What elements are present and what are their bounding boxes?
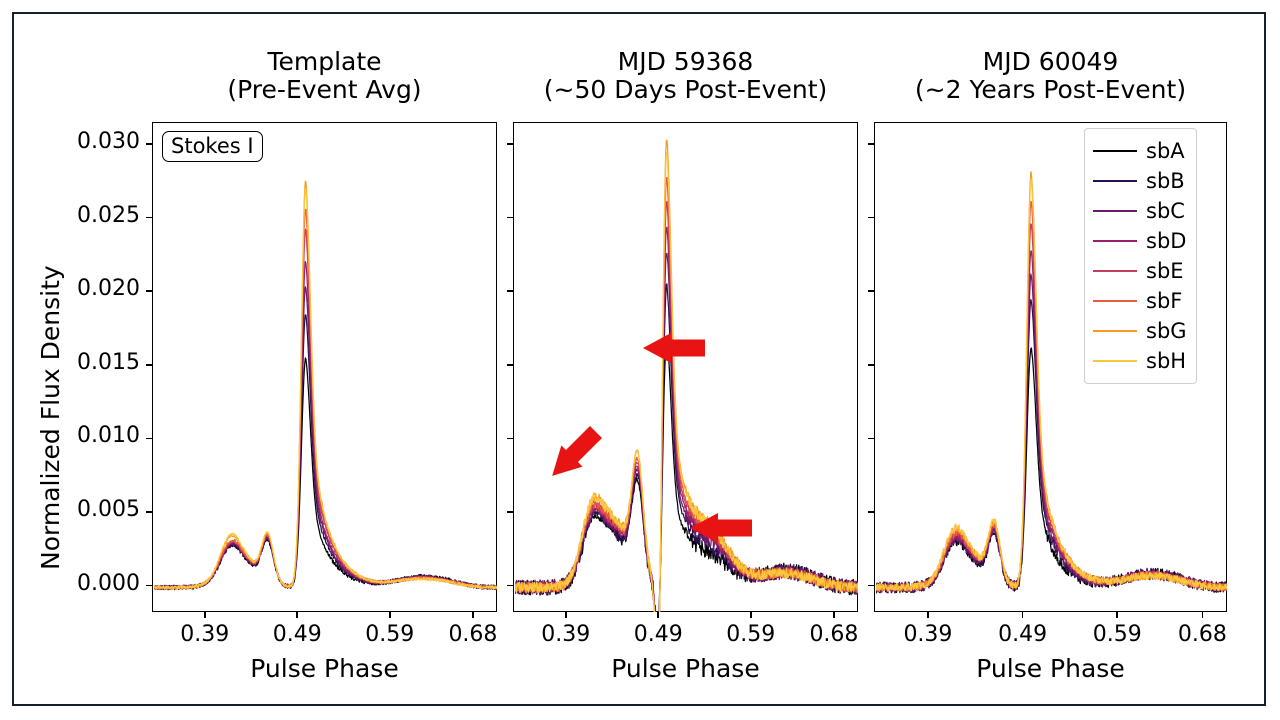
series-line-sbE: [515, 202, 858, 612]
x-tick-label: 0.39: [516, 622, 616, 647]
y-tick-label: 0.005: [2, 497, 140, 522]
y-tick-label: 0.030: [2, 129, 140, 154]
y-tick-mark: [507, 364, 513, 366]
x-tick-mark: [204, 612, 206, 618]
legend-swatch-sbD: [1093, 240, 1137, 242]
legend-item-sbB: sbB: [1093, 166, 1187, 196]
x-axis-label-3: Pulse Phase: [874, 654, 1227, 683]
x-tick-mark: [1116, 612, 1118, 618]
x-tick-label: 0.49: [608, 622, 708, 647]
x-tick-mark: [927, 612, 929, 618]
legend-label: sbE: [1146, 261, 1184, 282]
legend-item-sbF: sbF: [1093, 286, 1187, 316]
y-tick-mark: [146, 438, 152, 440]
x-tick-mark: [1202, 612, 1204, 618]
legend-label: sbD: [1146, 231, 1186, 252]
x-tick-mark: [1022, 612, 1024, 618]
series-line-sbF: [515, 178, 858, 612]
y-tick-mark: [146, 364, 152, 366]
legend-label: sbF: [1146, 291, 1182, 312]
series-line-sbG: [515, 140, 858, 612]
legend-item-sbE: sbE: [1093, 256, 1187, 286]
y-tick-mark: [868, 438, 874, 440]
legend-item-sbH: sbH: [1093, 346, 1187, 376]
x-tick-mark: [657, 612, 659, 618]
y-tick-mark: [507, 585, 513, 587]
legend-label: sbA: [1146, 141, 1185, 162]
y-tick-mark: [507, 143, 513, 145]
profile-curves-panel-1: [154, 124, 497, 612]
series-line-sbB: [515, 284, 858, 612]
x-tick-mark: [472, 612, 474, 618]
x-tick-label: 0.68: [784, 622, 884, 647]
y-tick-mark: [507, 217, 513, 219]
legend-swatch-sbE: [1093, 270, 1137, 272]
x-tick-label: 0.49: [247, 622, 347, 647]
y-tick-mark: [146, 217, 152, 219]
profile-curves-panel-2: [515, 124, 858, 612]
x-tick-label: 0.39: [155, 622, 255, 647]
legend-swatch-sbC: [1093, 210, 1137, 212]
x-axis-label-2: Pulse Phase: [513, 654, 858, 683]
y-tick-mark: [146, 290, 152, 292]
series-line-sbA: [154, 358, 497, 590]
y-axis-label: Normalized Flux Density: [36, 265, 65, 570]
legend-swatch-sbB: [1093, 180, 1137, 182]
legend-swatch-sbH: [1093, 360, 1137, 362]
plot-panel-1: [152, 122, 497, 612]
legend-item-sbG: sbG: [1093, 316, 1187, 346]
y-tick-mark: [868, 143, 874, 145]
series-line-sbC: [515, 253, 858, 612]
series-line-sbA: [876, 348, 1227, 593]
y-tick-label: 0.000: [2, 571, 140, 596]
y-tick-label: 0.010: [2, 423, 140, 448]
legend-item-sbC: sbC: [1093, 196, 1187, 226]
y-tick-mark: [868, 290, 874, 292]
y-tick-mark: [507, 290, 513, 292]
x-tick-mark: [750, 612, 752, 618]
y-tick-mark: [146, 143, 152, 145]
legend-swatch-sbF: [1093, 300, 1137, 302]
y-tick-mark: [507, 511, 513, 513]
panel-title-line2: (~2 Years Post-Event): [814, 76, 1280, 104]
y-tick-label: 0.025: [2, 203, 140, 228]
x-tick-label: 0.49: [973, 622, 1073, 647]
panel-title-line1: MJD 60049: [814, 48, 1280, 76]
y-tick-mark: [868, 217, 874, 219]
x-tick-mark: [833, 612, 835, 618]
y-tick-label: 0.020: [2, 276, 140, 301]
plot-panel-2: [513, 122, 858, 612]
series-line-sbH: [515, 153, 858, 612]
y-tick-mark: [146, 585, 152, 587]
legend-swatch-sbG: [1093, 330, 1137, 332]
legend: sbAsbBsbCsbDsbEsbFsbGsbH: [1084, 128, 1197, 384]
figure-root: Normalized Flux Density Template(Pre-Eve…: [0, 0, 1280, 720]
series-line-sbC: [154, 287, 497, 590]
x-axis-label-1: Pulse Phase: [152, 654, 497, 683]
legend-label: sbC: [1146, 201, 1185, 222]
stokes-label-box: Stokes I: [162, 131, 263, 162]
x-tick-label: 0.68: [1152, 622, 1252, 647]
x-tick-mark: [296, 612, 298, 618]
y-tick-mark: [868, 585, 874, 587]
legend-label: sbH: [1146, 351, 1186, 372]
legend-item-sbD: sbD: [1093, 226, 1187, 256]
y-tick-label: 0.015: [2, 350, 140, 375]
x-tick-label: 0.68: [423, 622, 523, 647]
legend-label: sbB: [1146, 171, 1185, 192]
legend-label: sbG: [1146, 321, 1187, 342]
x-tick-mark: [389, 612, 391, 618]
y-tick-mark: [868, 364, 874, 366]
y-tick-mark: [868, 511, 874, 513]
y-tick-mark: [507, 438, 513, 440]
y-tick-mark: [146, 511, 152, 513]
series-line-sbD: [515, 227, 858, 612]
x-tick-mark: [565, 612, 567, 618]
legend-item-sbA: sbA: [1093, 136, 1187, 166]
legend-swatch-sbA: [1093, 150, 1137, 152]
panel-title-3: MJD 60049(~2 Years Post-Event): [814, 48, 1280, 104]
x-tick-label: 0.39: [878, 622, 978, 647]
